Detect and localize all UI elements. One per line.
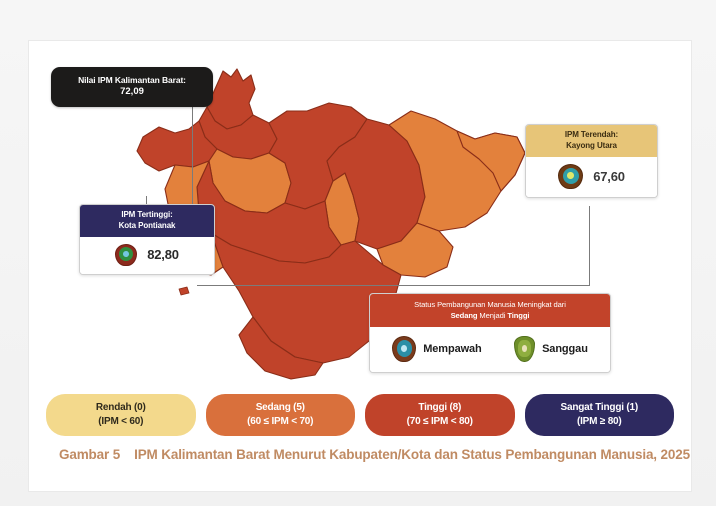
callout-status-header: Status Pembangunan Manusia Meningkat dar… [370, 294, 610, 327]
callout-highest-header: IPM Tertinggi: Kota Pontianak [80, 205, 214, 237]
connector-kayong-vertical [589, 206, 590, 286]
legend-item-sangat-tinggi[interactable]: Sangat Tinggi (1) (IPM ≥ 80) [525, 394, 675, 436]
legend-item-tinggi-range: (70 ≤ IPM < 80) [369, 415, 511, 429]
legend-item-rendah-range: (IPM < 60) [50, 415, 192, 429]
legend-item-sedang[interactable]: Sedang (5) (60 ≤ IPM < 70) [206, 394, 356, 436]
mempawah-emblem [392, 336, 416, 362]
figure-caption-number: Gambar 5 [28, 445, 120, 465]
callout-lowest-header: IPM Terendah: Kayong Utara [526, 125, 657, 157]
callout-status-header-line2: Sedang Menjadi Tinggi [378, 310, 602, 321]
status-region-sanggau-label: Sanggau [542, 343, 588, 355]
figure-card: Nilai IPM Kalimantan Barat: 72,09 IPM Te… [28, 40, 692, 492]
callout-ipm-tertinggi[interactable]: IPM Tertinggi: Kota Pontianak 82,80 [79, 204, 215, 275]
status-menjadi-label: Menjadi [477, 311, 507, 320]
callout-province-value: 72,09 [57, 86, 207, 99]
sanggau-emblem [514, 336, 535, 362]
map-legend: Rendah (0) (IPM < 60) Sedang (5) (60 ≤ I… [29, 391, 691, 439]
callout-province-title: Nilai IPM Kalimantan Barat: [57, 75, 207, 86]
callout-highest-value: 82,80 [147, 247, 179, 262]
legend-item-sedang-label: Sedang (5) [210, 401, 352, 415]
legend-item-rendah[interactable]: Rendah (0) (IPM < 60) [46, 394, 196, 436]
figure-caption: Gambar 5 IPM Kalimantan Barat Menurut Ka… [28, 445, 691, 465]
legend-item-tinggi[interactable]: Tinggi (8) (70 ≤ IPM < 80) [365, 394, 515, 436]
legend-item-rendah-label: Rendah (0) [50, 401, 192, 415]
callout-ipm-terendah[interactable]: IPM Terendah: Kayong Utara 67,60 [525, 124, 658, 198]
legend-item-sedang-range: (60 ≤ IPM < 70) [210, 415, 352, 429]
callout-lowest-value: 67,60 [593, 169, 625, 184]
legend-item-sangat-tinggi-label: Sangat Tinggi (1) [529, 401, 671, 415]
callout-lowest-title-line1: IPM Terendah: [530, 130, 653, 141]
status-to-label: Tinggi [507, 311, 529, 320]
status-from-label: Sedang [451, 311, 478, 320]
callout-highest-title-line2: Kota Pontianak [84, 221, 210, 232]
figure-caption-text: IPM Kalimantan Barat Menurut Kabupaten/K… [134, 445, 691, 465]
connector-province-vertical [192, 89, 193, 214]
status-region-mempawah-label: Mempawah [423, 343, 482, 355]
kota-pontianak-emblem [115, 244, 137, 266]
connector-kayong-horizontal [197, 285, 589, 286]
status-region-sanggau[interactable]: Sanggau [514, 336, 588, 362]
status-region-mempawah[interactable]: Mempawah [392, 336, 482, 362]
callout-status-header-line1: Status Pembangunan Manusia Meningkat dar… [378, 299, 602, 310]
callout-highest-body: 82,80 [80, 237, 214, 274]
callout-lowest-title-line2: Kayong Utara [530, 141, 653, 152]
callout-status-body: Mempawah Sanggau [370, 327, 610, 372]
callout-status-pembangunan[interactable]: Status Pembangunan Manusia Meningkat dar… [369, 293, 611, 373]
kayong-utara-emblem [558, 164, 583, 189]
map-area: Nilai IPM Kalimantan Barat: 72,09 IPM Te… [29, 41, 691, 386]
island-4 [179, 287, 189, 295]
callout-lowest-body: 67,60 [526, 157, 657, 197]
callout-highest-title-line1: IPM Tertinggi: [84, 210, 210, 221]
legend-item-sangat-tinggi-range: (IPM ≥ 80) [529, 415, 671, 429]
legend-item-tinggi-label: Tinggi (8) [369, 401, 511, 415]
callout-province-ipm[interactable]: Nilai IPM Kalimantan Barat: 72,09 [51, 67, 213, 107]
